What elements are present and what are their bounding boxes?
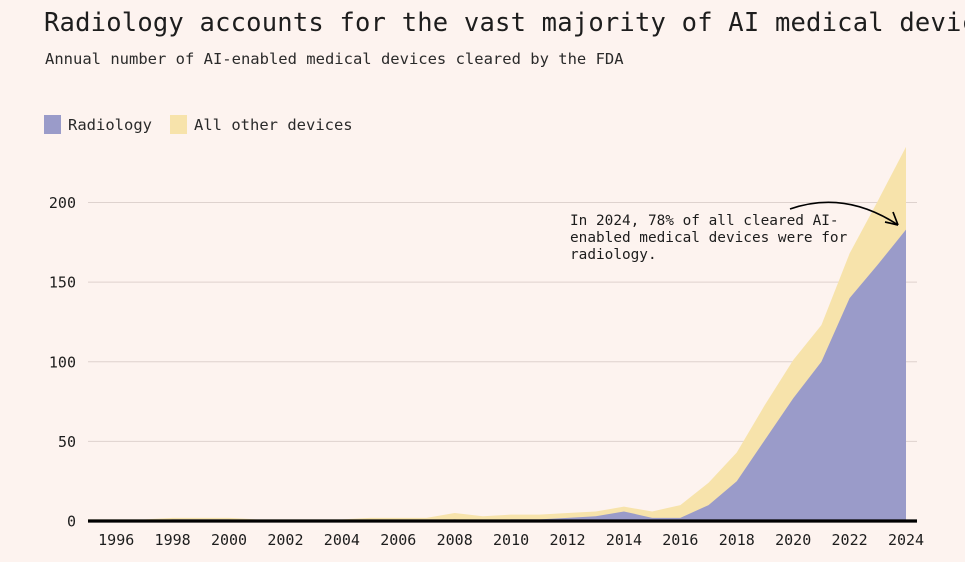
- x-axis-tick-labels: 1996199820002002200420062008201020122014…: [98, 531, 924, 549]
- x-axis-tick-label: 2010: [493, 531, 529, 549]
- y-axis-tick-labels: 050100150200: [49, 194, 76, 530]
- x-axis-tick-label: 2014: [606, 531, 642, 549]
- y-axis-tick-label: 50: [58, 433, 76, 451]
- x-axis-tick-label: 2000: [211, 531, 247, 549]
- y-axis-tick-label: 100: [49, 353, 76, 371]
- chart-container: Radiology accounts for the vast majority…: [0, 0, 965, 562]
- x-axis-tick-label: 1996: [98, 531, 134, 549]
- x-axis-tick-label: 2008: [437, 531, 473, 549]
- x-axis-tick-label: 1998: [155, 531, 191, 549]
- x-axis-tick-label: 2022: [832, 531, 868, 549]
- x-axis-tick-label: 2020: [775, 531, 811, 549]
- x-axis-tick-label: 2018: [719, 531, 755, 549]
- y-axis-tick-label: 0: [67, 513, 76, 531]
- x-axis-tick-label: 2002: [267, 531, 303, 549]
- x-axis-tick-label: 2016: [662, 531, 698, 549]
- x-axis-tick-label: 2012: [549, 531, 585, 549]
- chart-plot-area: 050100150200 199619982000200220042006200…: [0, 0, 965, 562]
- chart-annotation-text: In 2024, 78% of all cleared AI-enabled m…: [570, 213, 850, 264]
- x-axis-tick-label: 2006: [380, 531, 416, 549]
- x-axis-tick-label: 2024: [888, 531, 924, 549]
- x-axis-tick-label: 2004: [324, 531, 360, 549]
- y-axis-tick-label: 200: [49, 194, 76, 212]
- area-series-radiology: [88, 230, 906, 521]
- y-axis-tick-label: 150: [49, 274, 76, 292]
